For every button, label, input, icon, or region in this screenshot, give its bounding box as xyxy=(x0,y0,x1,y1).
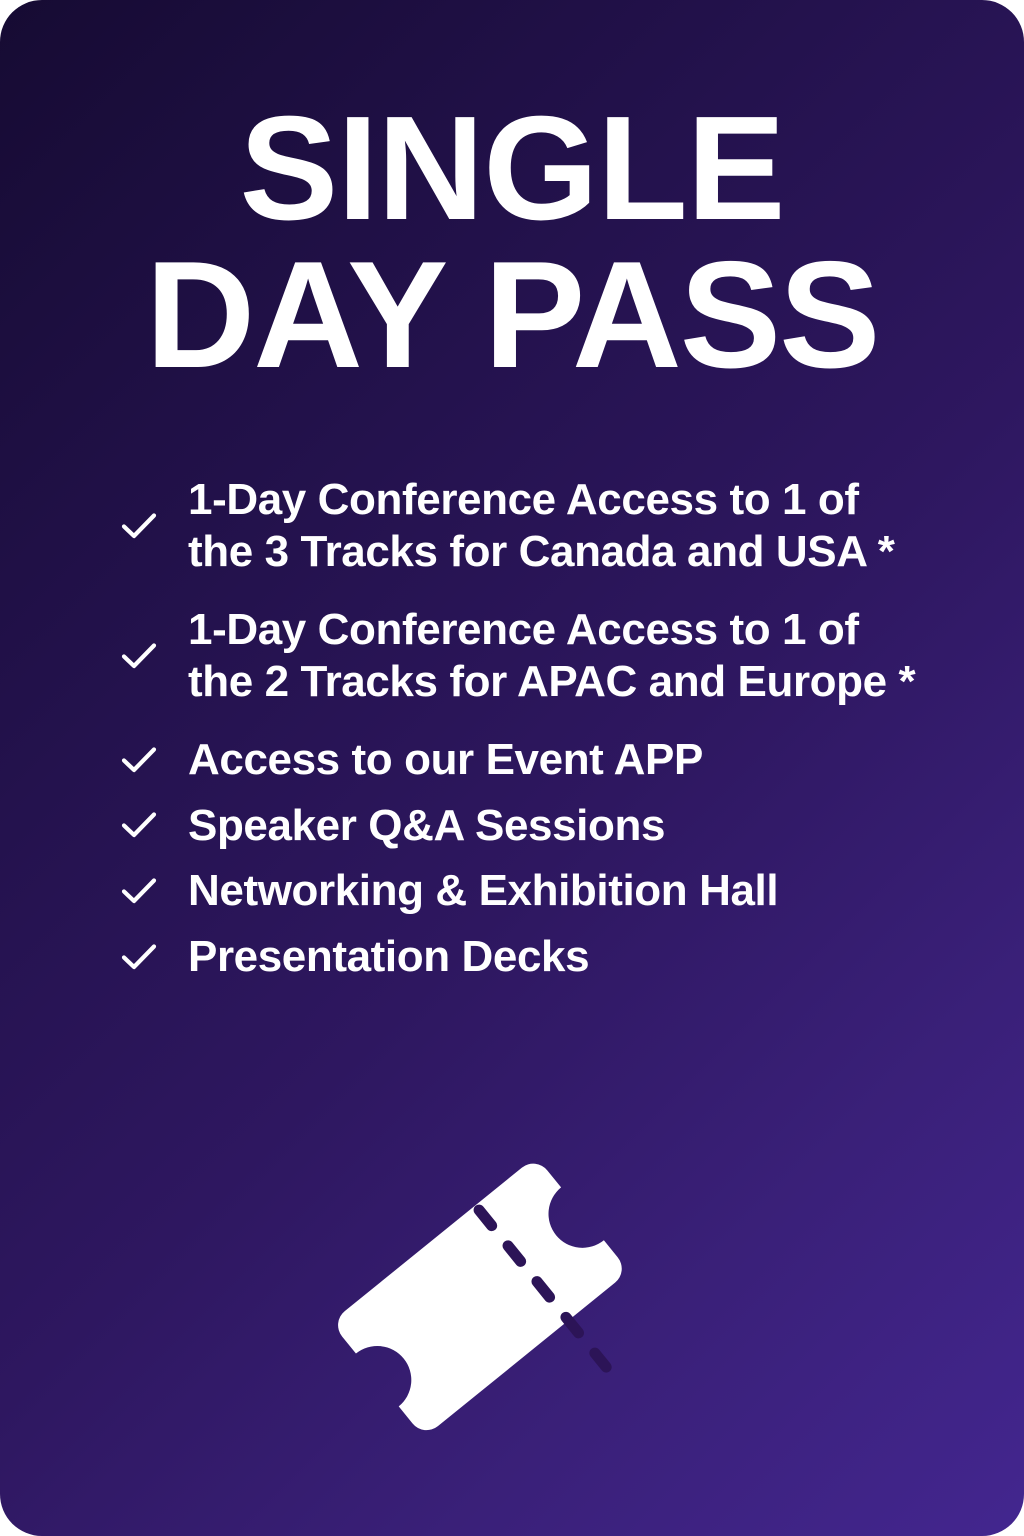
check-icon xyxy=(118,936,160,978)
feature-label: Presentation Decks xyxy=(188,931,589,983)
single-day-pass-card: SINGLE DAY PASS 1-Day Conference Access … xyxy=(0,0,1024,1536)
list-item: Presentation Decks xyxy=(118,931,918,983)
feature-label: Speaker Q&A Sessions xyxy=(188,800,665,852)
check-icon xyxy=(118,739,160,781)
feature-list: 1-Day Conference Access to 1 of the 3 Tr… xyxy=(118,474,918,997)
title-line-1: SINGLE xyxy=(0,96,1024,241)
feature-label: 1-Day Conference Access to 1 of the 3 Tr… xyxy=(188,474,918,578)
list-item: 1-Day Conference Access to 1 of the 3 Tr… xyxy=(118,474,918,578)
page-title: SINGLE DAY PASS xyxy=(0,96,1024,390)
list-item: Speaker Q&A Sessions xyxy=(118,800,918,852)
feature-label: Access to our Event APP xyxy=(188,734,703,786)
feature-label: Networking & Exhibition Hall xyxy=(188,865,778,917)
check-icon xyxy=(118,635,160,677)
check-icon xyxy=(118,804,160,846)
check-icon xyxy=(118,505,160,547)
list-item: Access to our Event APP xyxy=(118,734,918,786)
list-item: Networking & Exhibition Hall xyxy=(118,865,918,917)
feature-label: 1-Day Conference Access to 1 of the 2 Tr… xyxy=(188,604,918,708)
title-line-2: DAY PASS xyxy=(0,241,1024,390)
check-icon xyxy=(118,870,160,912)
list-item: 1-Day Conference Access to 1 of the 2 Tr… xyxy=(118,604,918,708)
ticket-icon xyxy=(330,1150,690,1480)
